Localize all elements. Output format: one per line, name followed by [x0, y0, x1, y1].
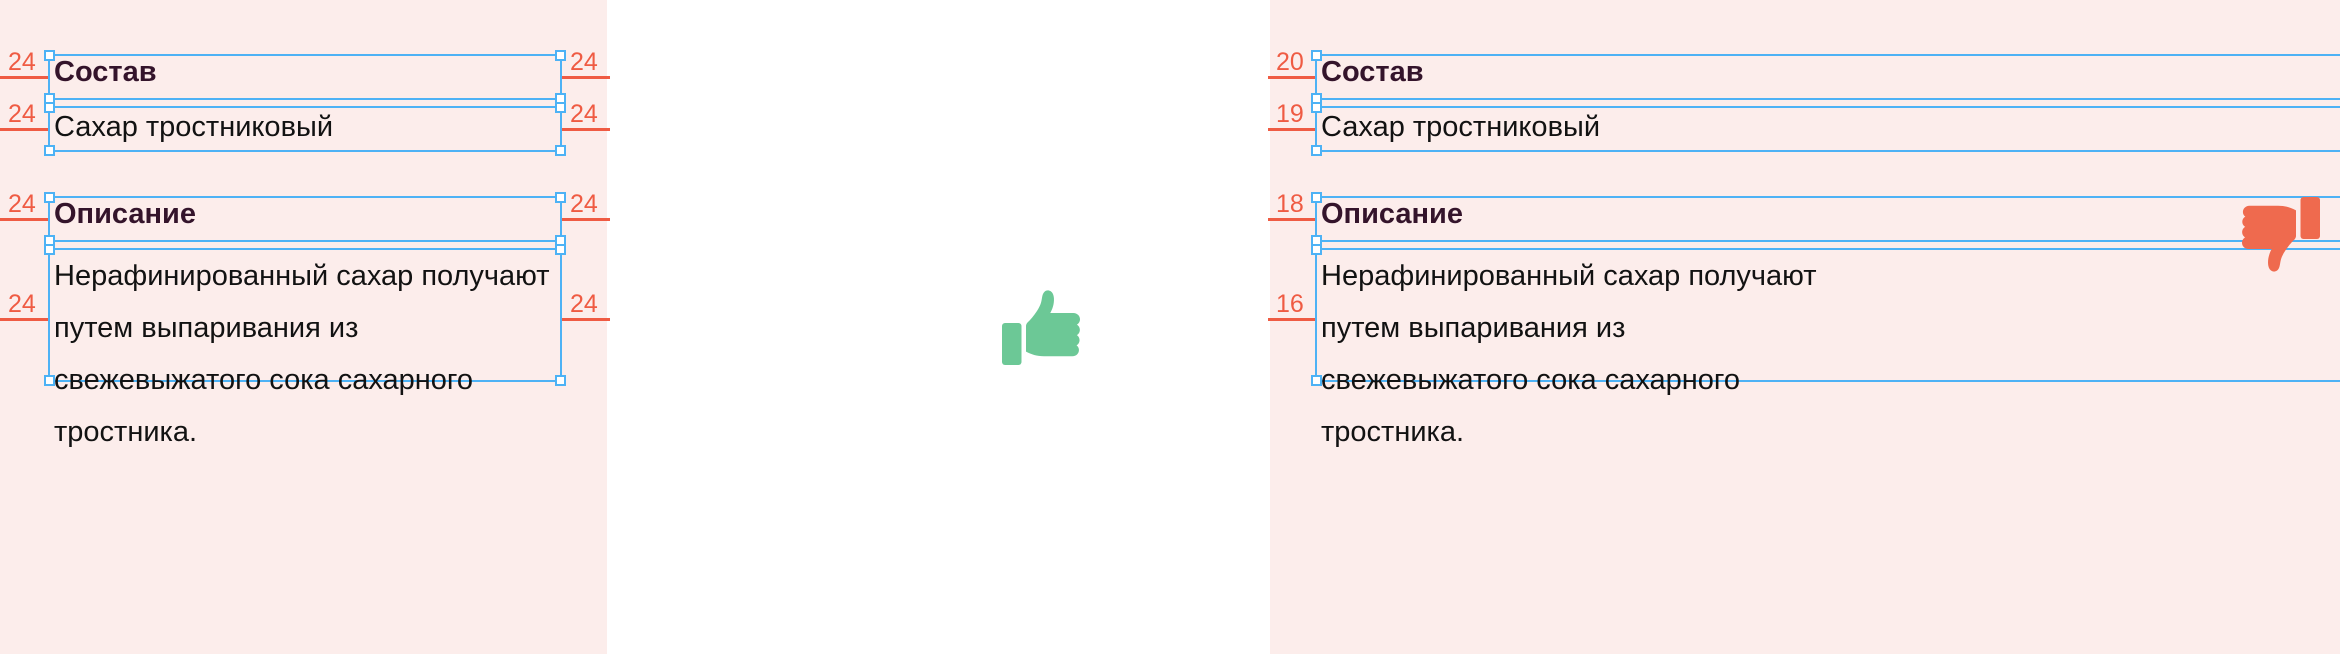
text-sostav-heading-bad: Состав: [1321, 58, 2321, 87]
resize-handle-bottom-right[interactable]: [555, 145, 566, 156]
measure-label: 24: [570, 50, 598, 75]
resize-handle-top-right[interactable]: [555, 102, 566, 113]
text-sostav-value-bad: Сахар тростниковый: [1321, 113, 2321, 142]
measure-label: 16: [1276, 292, 1304, 317]
measure-label: 24: [8, 50, 36, 75]
text-opisanie-heading-bad: Описание: [1321, 200, 2321, 229]
resize-handle-bottom-left[interactable]: [1311, 145, 1322, 156]
measure-label: 24: [570, 292, 598, 317]
text-sostav-value-good: Сахар тростниковый: [54, 113, 554, 142]
resize-handle-top-right[interactable]: [555, 50, 566, 61]
measure-label: 20: [1276, 50, 1304, 75]
text-sostav-heading-good: Состав: [54, 58, 554, 87]
measure-label: 24: [570, 102, 598, 127]
comparison-stage: Состав 24 24 Сахар тростниковый 24 24 Оп…: [0, 0, 2340, 654]
resize-handle-bottom-left[interactable]: [44, 145, 55, 156]
thumbs-up-icon: [996, 278, 1092, 374]
measure-label: 24: [8, 292, 36, 317]
measure-label: 24: [570, 192, 598, 217]
text-opisanie-heading-good: Описание: [54, 200, 554, 229]
measure-label: 24: [8, 192, 36, 217]
resize-handle-top-right[interactable]: [555, 192, 566, 203]
measure-label: 24: [8, 102, 36, 127]
text-opisanie-value-good: Нерафинированный сахар получают путем вы…: [54, 250, 559, 458]
thumbs-down-icon: [2230, 188, 2326, 284]
measure-label: 19: [1276, 102, 1304, 127]
measure-label: 18: [1276, 192, 1304, 217]
text-opisanie-value-bad: Нерафинированный сахар получают путем вы…: [1321, 250, 1826, 458]
